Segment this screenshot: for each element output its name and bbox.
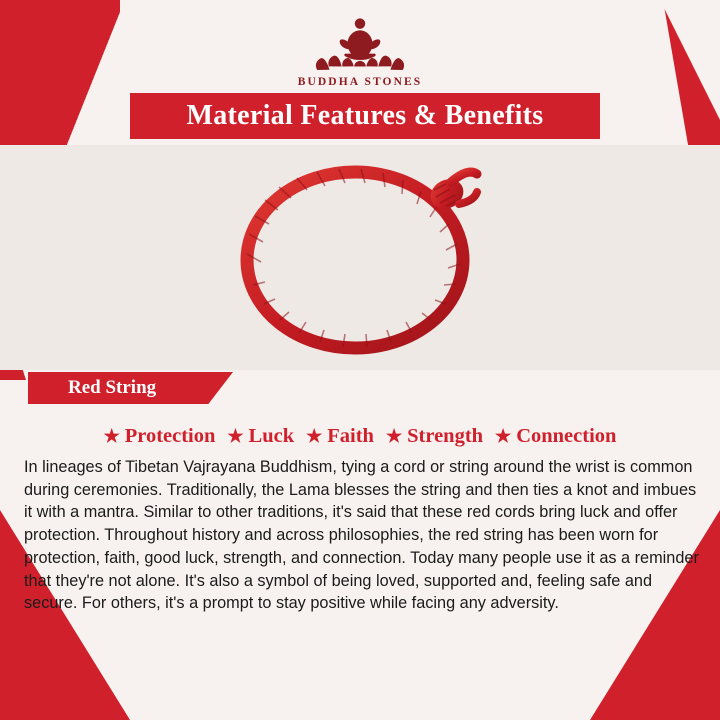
product-label-text: Red String	[68, 377, 156, 399]
product-label-tab: Red String	[28, 372, 233, 404]
lotus-meditating-figure-icon	[301, 12, 419, 74]
benefit-label: Faith	[327, 425, 374, 448]
benefit-item-strength: ★ Strength	[386, 425, 483, 448]
description-text: In lineages of Tibetan Vajrayana Buddhis…	[24, 456, 702, 615]
star-icon: ★	[386, 427, 402, 445]
benefit-label: Protection	[125, 425, 216, 448]
benefit-item-faith: ★ Faith	[306, 425, 374, 448]
star-icon: ★	[227, 427, 243, 445]
benefit-item-connection: ★ Connection	[495, 425, 616, 448]
benefits-row: ★ Protection ★ Luck ★ Faith ★ Strength ★…	[0, 418, 720, 454]
page-title: Material Features & Benefits	[187, 100, 544, 132]
benefit-label: Connection	[516, 425, 616, 448]
brand-logo: BUDDHA STONES	[0, 12, 720, 88]
red-string-braided-bracelet	[215, 158, 505, 358]
star-icon: ★	[495, 427, 511, 445]
benefit-item-protection: ★ Protection	[104, 425, 216, 448]
section-title-band: Material Features & Benefits	[130, 93, 600, 139]
description-block: In lineages of Tibetan Vajrayana Buddhis…	[24, 456, 702, 615]
star-icon: ★	[104, 427, 120, 445]
benefit-label: Luck	[249, 425, 295, 448]
brand-name: BUDDHA STONES	[298, 76, 423, 88]
product-hero-panel	[0, 145, 720, 370]
star-icon: ★	[306, 427, 322, 445]
benefit-label: Strength	[407, 425, 483, 448]
benefit-item-luck: ★ Luck	[227, 425, 294, 448]
infographic-page: BUDDHA STONES Material Features & Benefi…	[0, 0, 720, 720]
